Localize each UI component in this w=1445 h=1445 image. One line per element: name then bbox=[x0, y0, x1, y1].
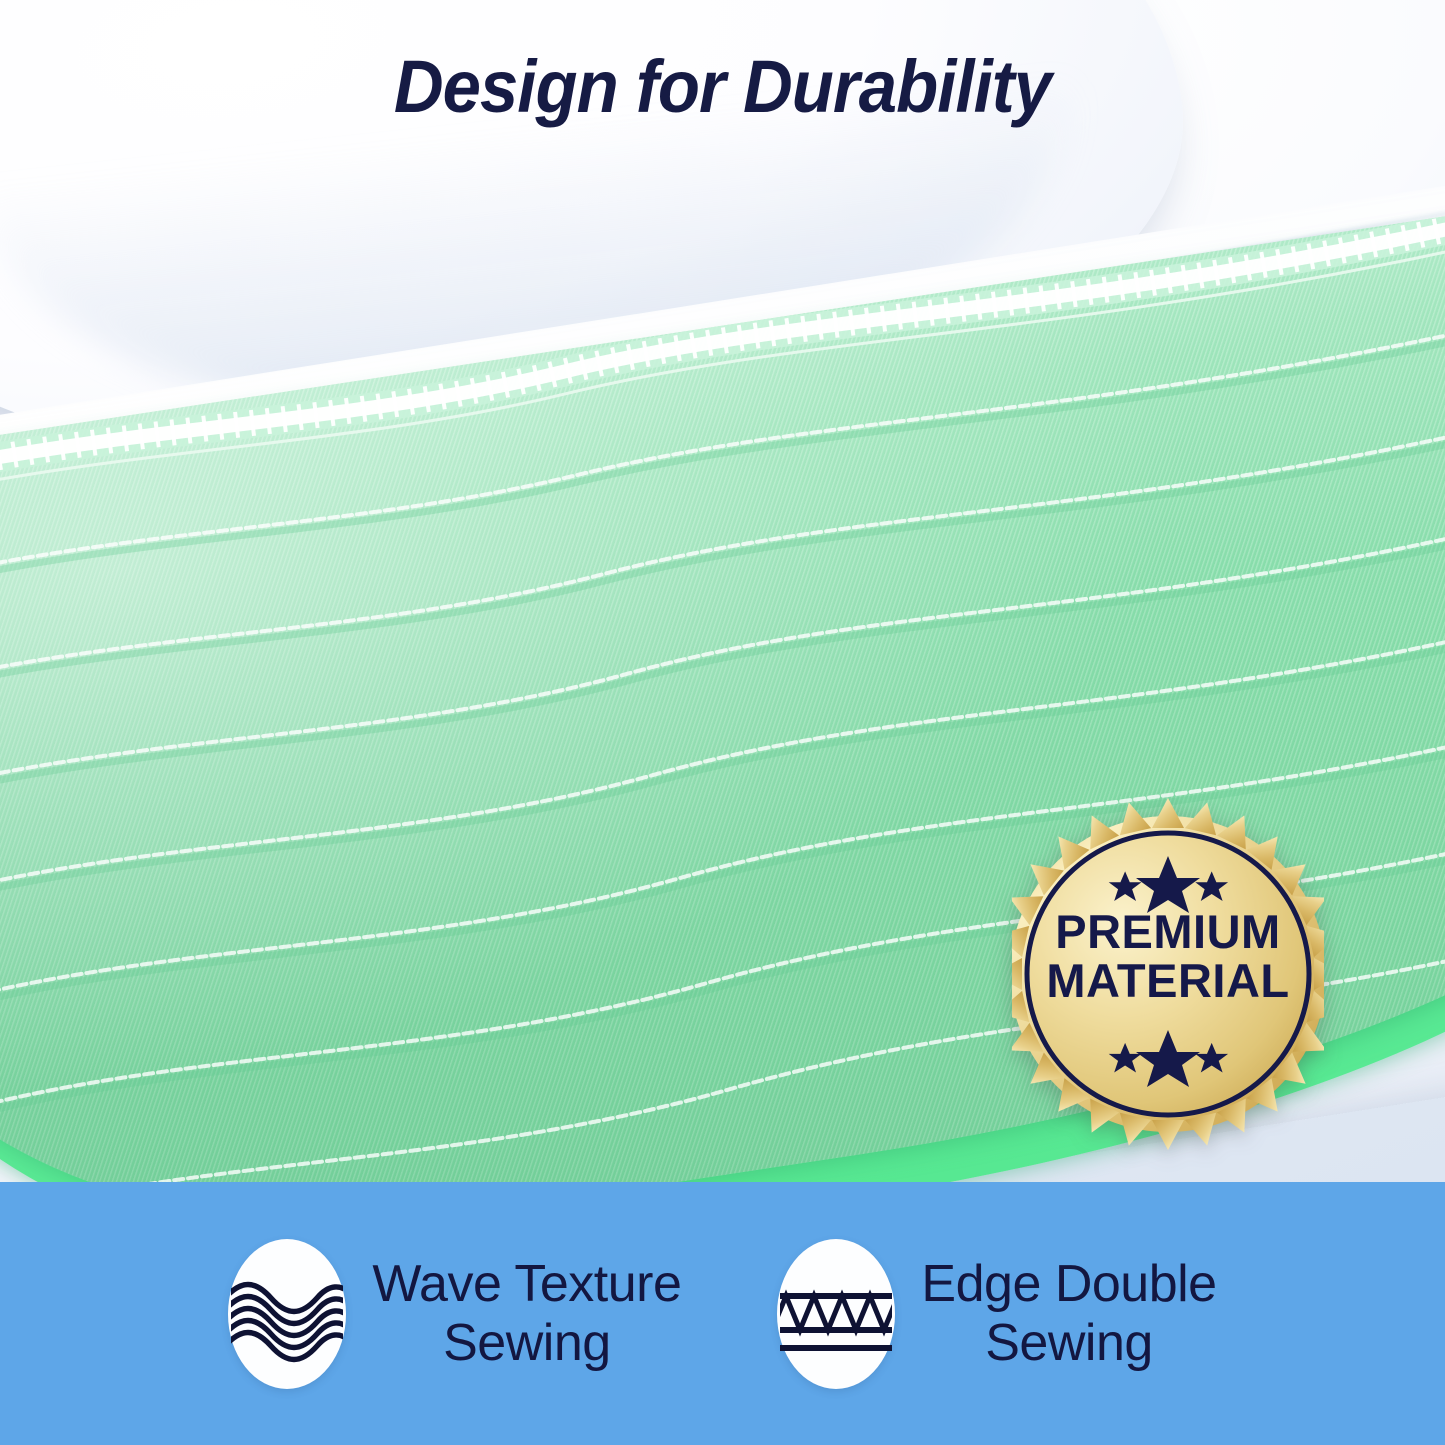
premium-material-badge: PREMIUM MATERIAL bbox=[1012, 798, 1324, 1150]
feature-label-wave-texture: Wave Texture Sewing bbox=[372, 1255, 681, 1371]
headline: Design for Durability bbox=[51, 44, 1395, 129]
feature-label-edge-double: Edge Double Sewing bbox=[921, 1255, 1216, 1371]
wave-texture-icon bbox=[228, 1239, 346, 1389]
feature-band: Wave Texture Sewing Edge Double Sewing bbox=[0, 1182, 1445, 1445]
feature-edge-double: Edge Double Sewing bbox=[777, 1239, 1216, 1389]
badge-seal-shape bbox=[1012, 798, 1324, 1150]
feature-list: Wave Texture Sewing Edge Double Sewing bbox=[0, 1239, 1445, 1389]
product-infographic: PREMIUM MATERIAL Design for Durability bbox=[0, 0, 1445, 1445]
product-photo: PREMIUM MATERIAL Design for Durability bbox=[0, 0, 1445, 1182]
edge-double-stitch-icon bbox=[777, 1239, 895, 1389]
feature-wave-texture: Wave Texture Sewing bbox=[228, 1239, 681, 1389]
